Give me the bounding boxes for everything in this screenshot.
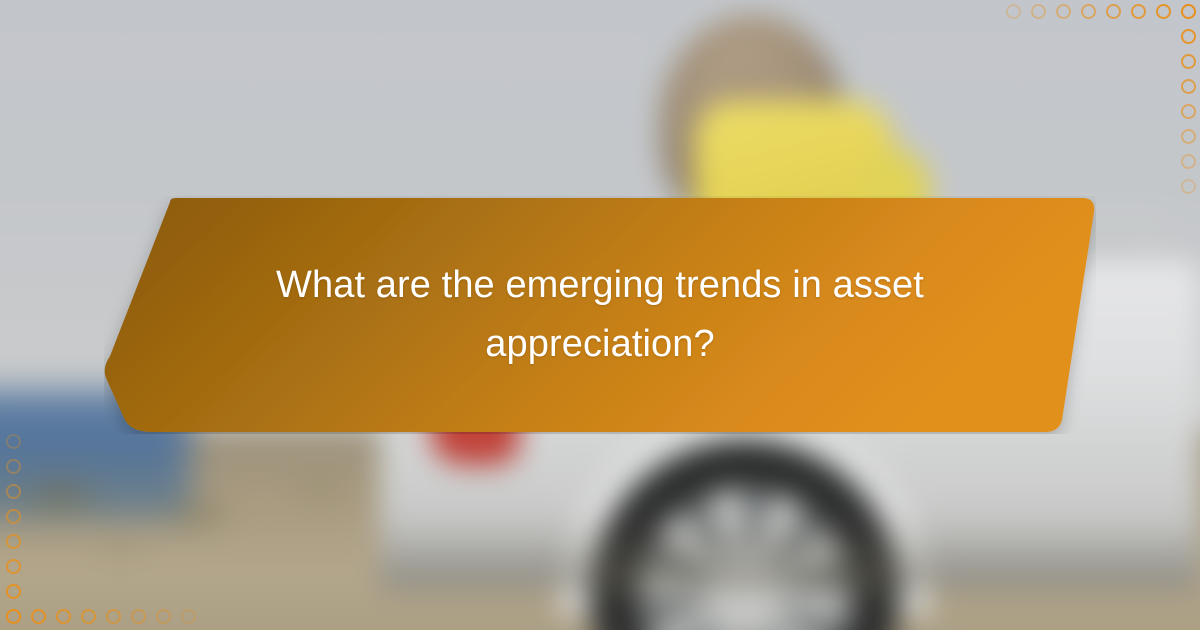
background-rocks xyxy=(0,455,430,575)
question-text: What are the emerging trends in asset ap… xyxy=(180,196,1020,434)
background-car-shadow xyxy=(380,520,1200,590)
question-card-canvas: What are the emerging trends in asset ap… xyxy=(0,0,1200,630)
